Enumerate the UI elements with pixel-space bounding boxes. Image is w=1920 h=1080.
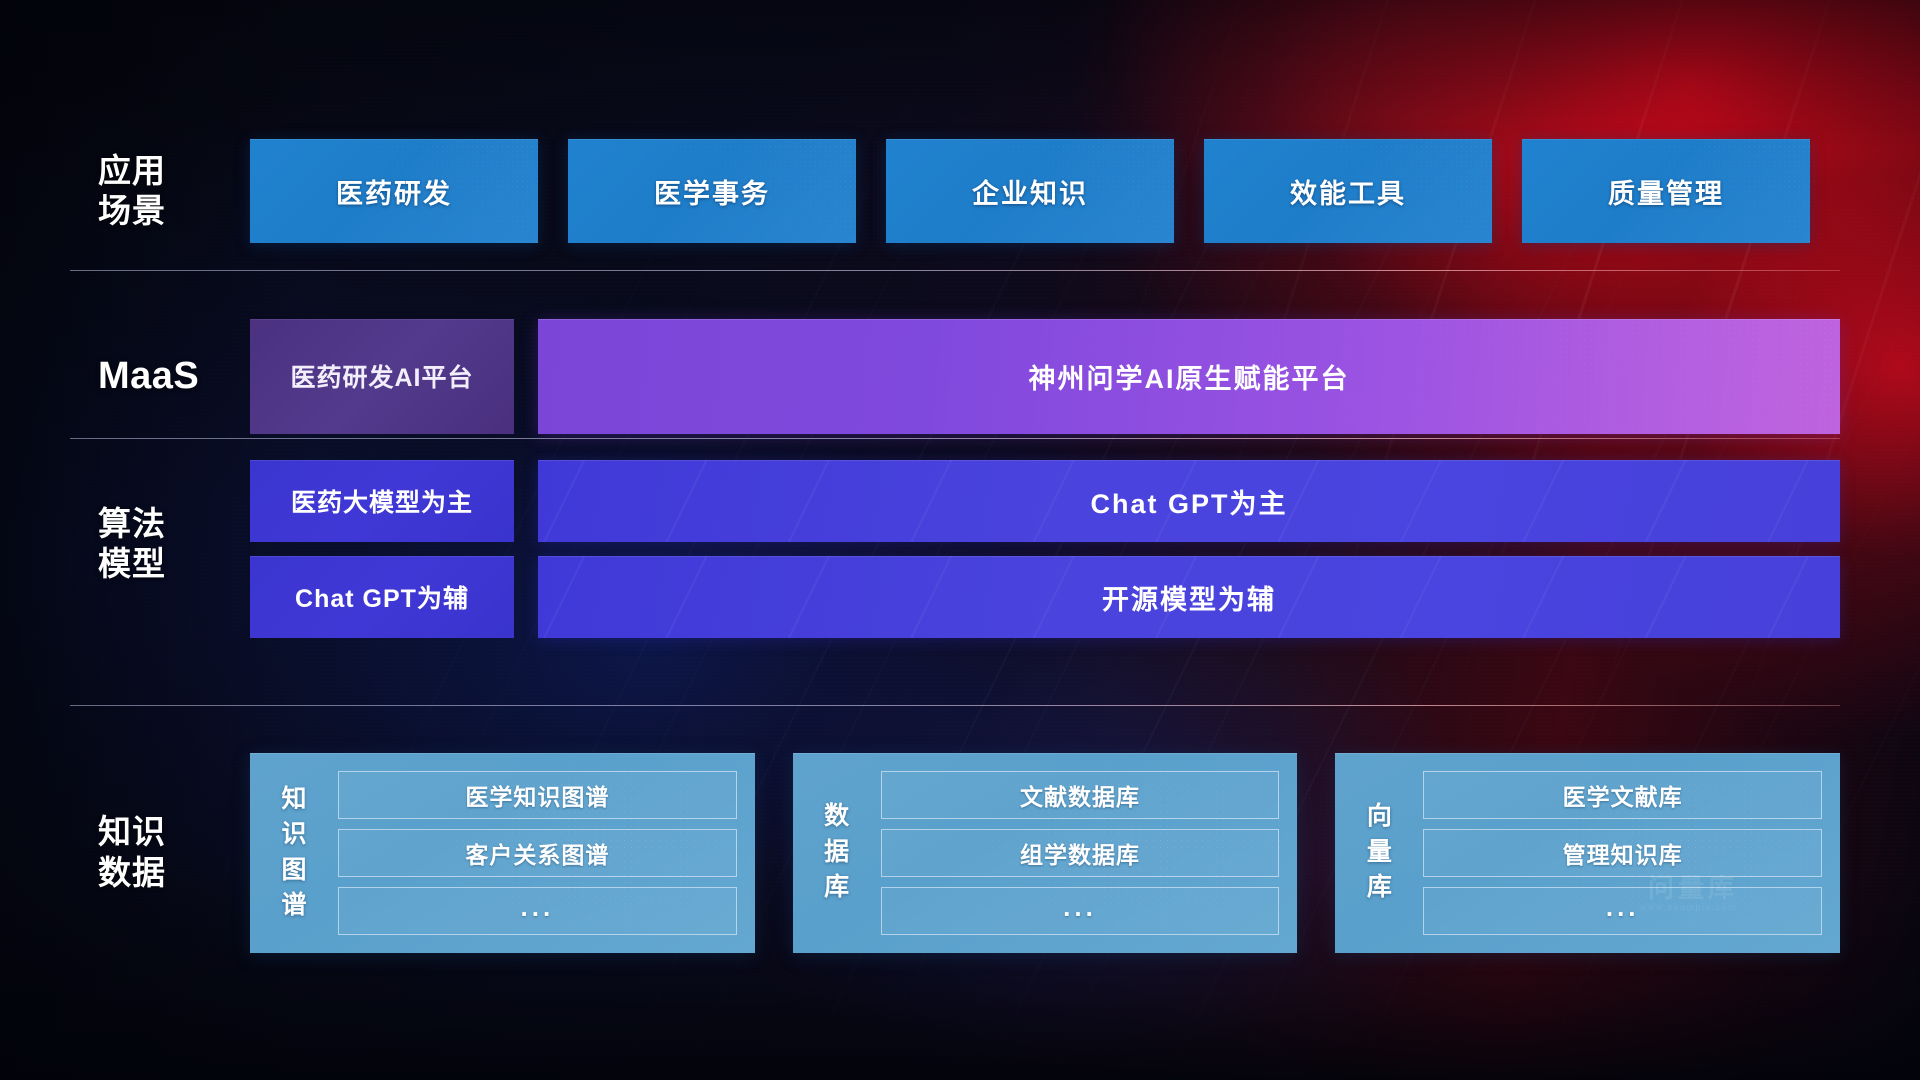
algorithm-block-pharma-llm-primary[interactable]: 医药大模型为主 [250,460,514,542]
scenario-card-label: 质量管理 [1608,172,1724,211]
knowledge-group-vector-store[interactable]: 向量库 医学文献库 管理知识库 ... [1335,753,1840,953]
algorithm-block-label: 医药大模型为主 [291,483,473,519]
scenario-card-list: 医药研发 医学事务 企业知识 效能工具 质量管理 [250,139,1840,243]
divider-after-scenarios [70,270,1840,271]
row-application-scenarios: 应用场景 医药研发 医学事务 企业知识 效能工具 质量管理 [70,121,1840,261]
knowledge-item-customer-relation-graph[interactable]: 客户关系图谱 [338,829,737,877]
row-maas: MaaS 医药研发AI平台 神州问学AI原生赋能平台 [70,291,1840,461]
row-label-knowledge-data: 知识数据 [70,812,250,893]
row-label-application-scenarios: 应用场景 [70,151,250,232]
knowledge-group-title: 知识图谱 [264,782,324,924]
row-body-algorithm-models: 医药大模型为主 Chat GPT为主 Chat GPT为辅 开源模型为辅 [250,460,1840,638]
algorithm-block-opensource-secondary[interactable]: 开源模型为辅 [538,556,1840,638]
maas-block-label: 医药研发AI平台 [290,358,473,394]
knowledge-item-list: 文献数据库 组学数据库 ... [881,771,1280,935]
scenario-card-label: 企业知识 [972,172,1088,211]
maas-block-list: 医药研发AI平台 神州问学AI原生赋能平台 [250,319,1840,434]
knowledge-item-literature-database[interactable]: 文献数据库 [881,771,1280,819]
knowledge-item-medical-knowledge-graph[interactable]: 医学知识图谱 [338,771,737,819]
divider-after-maas [70,438,1840,439]
row-algorithm-models: 算法模型 医药大模型为主 Chat GPT为主 Chat GPT为辅 开源模型为… [70,460,1840,670]
knowledge-item-omics-database[interactable]: 组学数据库 [881,829,1280,877]
knowledge-item-medical-literature-store[interactable]: 医学文献库 [1423,771,1822,819]
algorithm-block-label: Chat GPT为主 [1090,482,1287,521]
maas-block-shenzhou-wenxue-platform[interactable]: 神州问学AI原生赋能平台 [538,319,1840,434]
knowledge-item-more[interactable]: ... [1423,887,1822,935]
scenario-card-pharma-rd[interactable]: 医药研发 [250,139,538,243]
algorithm-block-grid: 医药大模型为主 Chat GPT为主 Chat GPT为辅 开源模型为辅 [250,460,1840,638]
scenario-card-medical-affairs[interactable]: 医学事务 [568,139,856,243]
algorithm-block-label: 开源模型为辅 [1102,578,1276,617]
row-label-algorithm-models: 算法模型 [70,460,250,585]
knowledge-item-more[interactable]: ... [338,887,737,935]
maas-block-label: 神州问学AI原生赋能平台 [1029,357,1350,396]
scenario-card-label: 效能工具 [1290,172,1406,211]
knowledge-item-more[interactable]: ... [881,887,1280,935]
knowledge-item-list: 医学知识图谱 客户关系图谱 ... [338,771,737,935]
algorithm-row-secondary: Chat GPT为辅 开源模型为辅 [250,556,1840,638]
algorithm-row-primary: 医药大模型为主 Chat GPT为主 [250,460,1840,542]
knowledge-group-list: 知识图谱 医学知识图谱 客户关系图谱 ... 数据库 文献数据库 组学数据库 .… [250,753,1840,953]
knowledge-group-title: 向量库 [1349,799,1409,906]
row-label-maas: MaaS [70,353,250,399]
infographic-canvas: 应用场景 医药研发 医学事务 企业知识 效能工具 质量管理 MaaS 医药研发A… [0,0,1920,1080]
scenario-card-quality-management[interactable]: 质量管理 [1522,139,1810,243]
scenario-card-enterprise-knowledge[interactable]: 企业知识 [886,139,1174,243]
algorithm-block-chatgpt-primary[interactable]: Chat GPT为主 [538,460,1840,542]
knowledge-group-title: 数据库 [807,799,867,906]
row-body-knowledge-data: 知识图谱 医学知识图谱 客户关系图谱 ... 数据库 文献数据库 组学数据库 .… [250,753,1840,953]
knowledge-group-knowledge-graph[interactable]: 知识图谱 医学知识图谱 客户关系图谱 ... [250,753,755,953]
algorithm-block-chatgpt-secondary[interactable]: Chat GPT为辅 [250,556,514,638]
scenario-card-efficiency-tools[interactable]: 效能工具 [1204,139,1492,243]
divider-after-algorithms [70,705,1840,706]
row-body-maas: 医药研发AI平台 神州问学AI原生赋能平台 [250,319,1840,434]
maas-block-pharma-ai-platform[interactable]: 医药研发AI平台 [250,319,514,434]
knowledge-group-database[interactable]: 数据库 文献数据库 组学数据库 ... [793,753,1298,953]
layer-stack-diagram: 应用场景 医药研发 医学事务 企业知识 效能工具 质量管理 MaaS 医药研发A… [0,0,1920,1080]
algorithm-block-label: Chat GPT为辅 [295,579,469,615]
row-knowledge-data: 知识数据 知识图谱 医学知识图谱 客户关系图谱 ... 数据库 [70,730,1840,975]
knowledge-item-list: 医学文献库 管理知识库 ... [1423,771,1822,935]
knowledge-item-management-knowledge-store[interactable]: 管理知识库 [1423,829,1822,877]
scenario-card-label: 医药研发 [336,172,452,211]
scenario-card-label: 医学事务 [654,172,770,211]
row-body-application-scenarios: 医药研发 医学事务 企业知识 效能工具 质量管理 [250,139,1840,243]
